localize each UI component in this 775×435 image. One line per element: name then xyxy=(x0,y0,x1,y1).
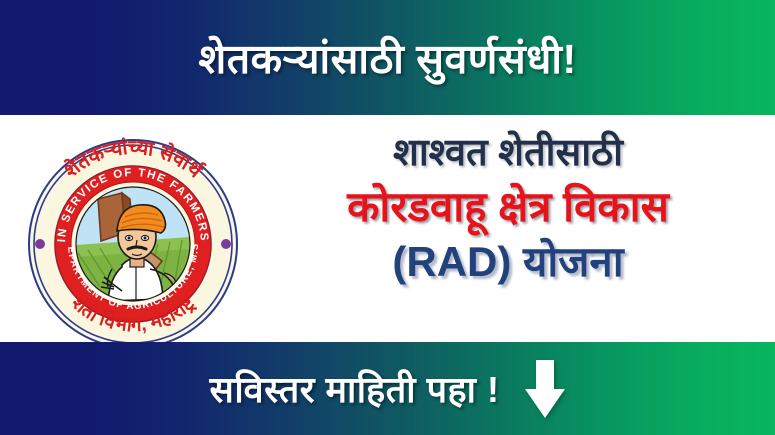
agriculture-department-seal-icon: शेतकऱ्यांच्या सेवार्थ शेती विभाग, महाराष… xyxy=(26,137,240,342)
headline-line-2: कोरडवाहू क्षेत्र विकास xyxy=(248,182,768,232)
poster-body: शेतकऱ्यांच्या सेवार्थ शेती विभाग, महाराष… xyxy=(0,115,775,342)
bottom-banner-content: सविस्तर माहिती पहा ! xyxy=(210,360,566,418)
top-banner-headline: शेतकऱ्यांसाठी सुवर्णसंधी! xyxy=(198,39,576,80)
bottom-banner-cta-text: सविस्तर माहिती पहा ! xyxy=(210,372,500,408)
headline-line-1: शाश्वत शेतीसाठी xyxy=(248,131,768,176)
promo-poster: शेतकऱ्यांसाठी सुवर्णसंधी! xyxy=(0,0,775,435)
headline-group: शाश्वत शेतीसाठी कोरडवाहू क्षेत्र विकास (… xyxy=(248,127,768,287)
top-banner: शेतकऱ्यांसाठी सुवर्णसंधी! xyxy=(0,0,775,115)
headline-line-3: (RAD) योजना xyxy=(248,237,768,287)
bottom-banner[interactable]: सविस्तर माहिती पहा ! xyxy=(0,342,775,435)
arrow-down-icon xyxy=(525,360,565,418)
